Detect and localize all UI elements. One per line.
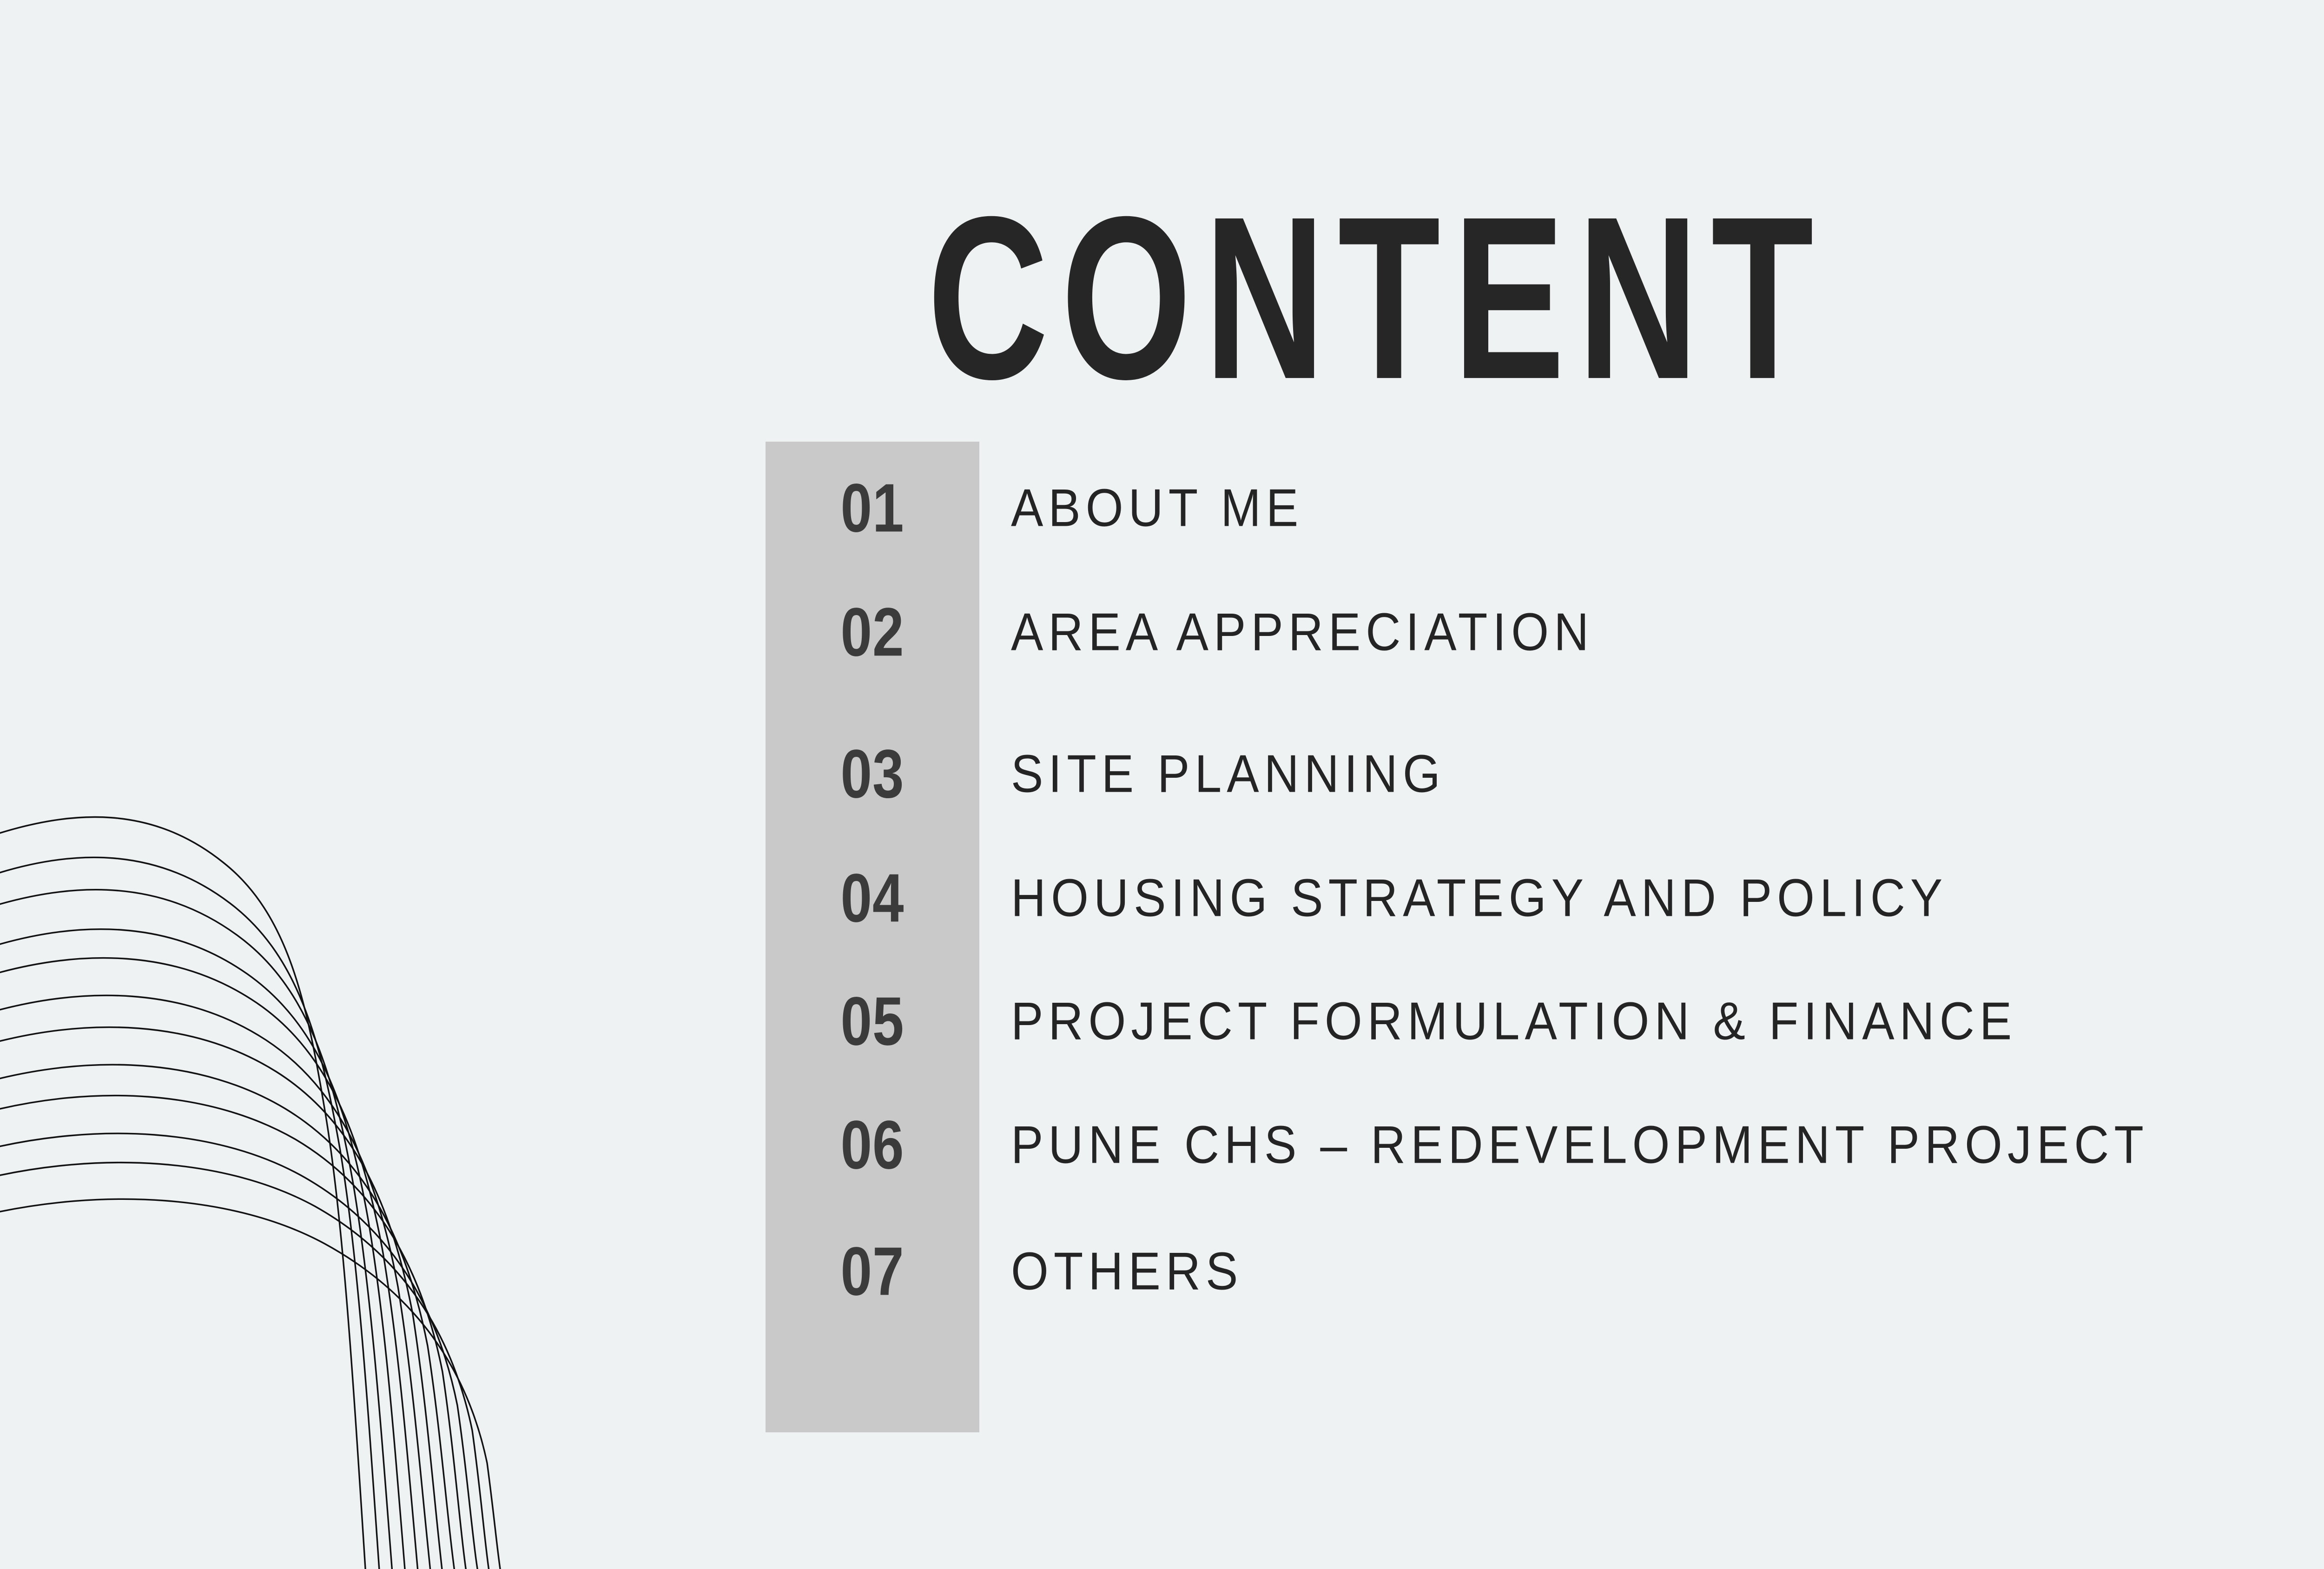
item-label: AREA APPRECIATION	[1011, 606, 1594, 659]
contents-list: 01 ABOUT ME 02 AREA APPRECIATION 03 SITE…	[766, 442, 2324, 1432]
item-label: PUNE CHS – REDEVELOPMENT PROJECT	[1011, 1119, 2149, 1172]
item-label: SITE PLANNING	[1011, 748, 1446, 801]
item-label: HOUSING STRATEGY AND POLICY	[1011, 872, 1948, 925]
list-item[interactable]: 01 ABOUT ME	[766, 469, 2324, 548]
list-item[interactable]: 04 HOUSING STRATEGY AND POLICY	[766, 859, 2324, 938]
item-label: OTHERS	[1011, 1245, 1243, 1298]
item-number: 02	[774, 598, 971, 667]
item-label: ABOUT ME	[1011, 482, 1303, 535]
content-slide: CONTENT 01 ABOUT ME 02 AREA APPRECIATION…	[0, 0, 2324, 1569]
list-item[interactable]: 05 PROJECT FORMULATION & FINANCE	[766, 982, 2324, 1061]
list-item[interactable]: 03 SITE PLANNING	[766, 735, 2324, 814]
item-number: 01	[774, 474, 971, 543]
item-number: 03	[774, 740, 971, 808]
list-item[interactable]: 02 AREA APPRECIATION	[766, 593, 2324, 672]
item-number: 05	[774, 987, 971, 1056]
wave-lines-decoration-bottom-left	[0, 779, 697, 1569]
wave-lines-decoration-top-right	[2278, 0, 2324, 325]
list-item[interactable]: 06 PUNE CHS – REDEVELOPMENT PROJECT	[766, 1106, 2324, 1185]
item-number: 04	[774, 864, 971, 933]
list-item[interactable]: 07 OTHERS	[766, 1232, 2324, 1311]
page-title: CONTENT	[927, 182, 1826, 414]
item-number: 06	[774, 1111, 971, 1179]
item-label: PROJECT FORMULATION & FINANCE	[1011, 995, 2017, 1048]
item-number: 07	[774, 1237, 971, 1306]
